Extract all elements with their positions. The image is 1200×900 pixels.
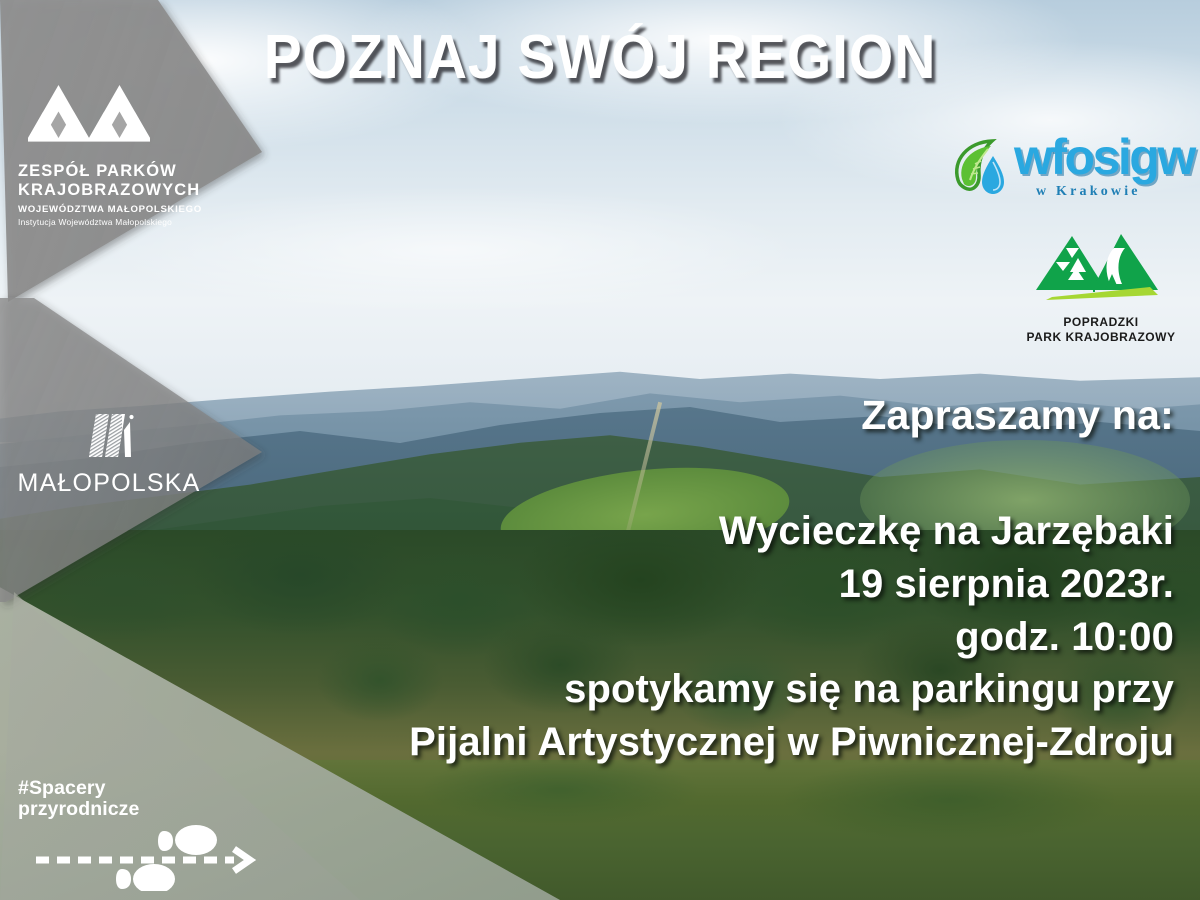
event-meeting-intro: spotykamy się na parkingu przy bbox=[409, 663, 1174, 716]
mountains-trees-icon bbox=[1026, 228, 1176, 308]
event-date: 19 sierpnia 2023r. bbox=[409, 558, 1174, 611]
leaf-waterdrop-icon bbox=[948, 134, 1020, 208]
footprints-dashed-arrow-icon bbox=[18, 823, 278, 891]
poprad-line-1: POPRADZKI bbox=[1016, 315, 1186, 330]
zpk-line-3: WOJEWÓDZTWA MAŁOPOLSKIEGO bbox=[18, 204, 248, 215]
event-name: Wycieczkę na Jarzębaki bbox=[409, 505, 1174, 558]
malopolska-label: MAŁOPOLSKA bbox=[14, 469, 204, 498]
logo-malopolska: MAŁOPOLSKA bbox=[14, 408, 204, 498]
zpk-line-4: Instytucja Województwa Małopolskiego bbox=[18, 218, 248, 228]
invite-heading: Zapraszamy na: bbox=[861, 392, 1174, 439]
zpk-line-1: ZESPÓŁ PARKÓW bbox=[18, 162, 248, 181]
triangles-icon bbox=[28, 85, 150, 147]
campaign-hashtag-line-1: #Spacery bbox=[18, 778, 288, 799]
wfosigw-wordmark: wfosigw bbox=[1014, 132, 1194, 182]
malopolska-m-icon bbox=[78, 408, 140, 460]
zpk-line-2: KRAJOBRAZOWYCH bbox=[18, 181, 248, 200]
logo-poprad: POPRADZKI PARK KRAJOBRAZOWY bbox=[1016, 228, 1186, 345]
campaign-hashtag-line-2: przyrodnicze bbox=[18, 799, 288, 820]
campaign-spacery: #Spacery przyrodnicze bbox=[18, 778, 288, 891]
poster: POZNAJ SWÓJ REGION ZESPÓŁ PARKÓW KRAJOBR… bbox=[0, 0, 1200, 900]
wfosigw-subtitle: w Krakowie bbox=[1036, 184, 1141, 200]
page-title: POZNAJ SWÓJ REGION bbox=[48, 22, 1152, 93]
event-details: Wycieczkę na Jarzębaki 19 sierpnia 2023r… bbox=[409, 505, 1174, 769]
logo-zpk: ZESPÓŁ PARKÓW KRAJOBRAZOWYCH WOJEWÓDZTWA… bbox=[18, 85, 248, 228]
poprad-line-2: PARK KRAJOBRAZOWY bbox=[1016, 330, 1186, 345]
event-time: godz. 10:00 bbox=[409, 611, 1174, 664]
logo-wfosigw: wfosigw w Krakowie bbox=[948, 132, 1192, 210]
event-meeting-place: Pijalni Artystycznej w Piwnicznej-Zdroju bbox=[409, 716, 1174, 769]
